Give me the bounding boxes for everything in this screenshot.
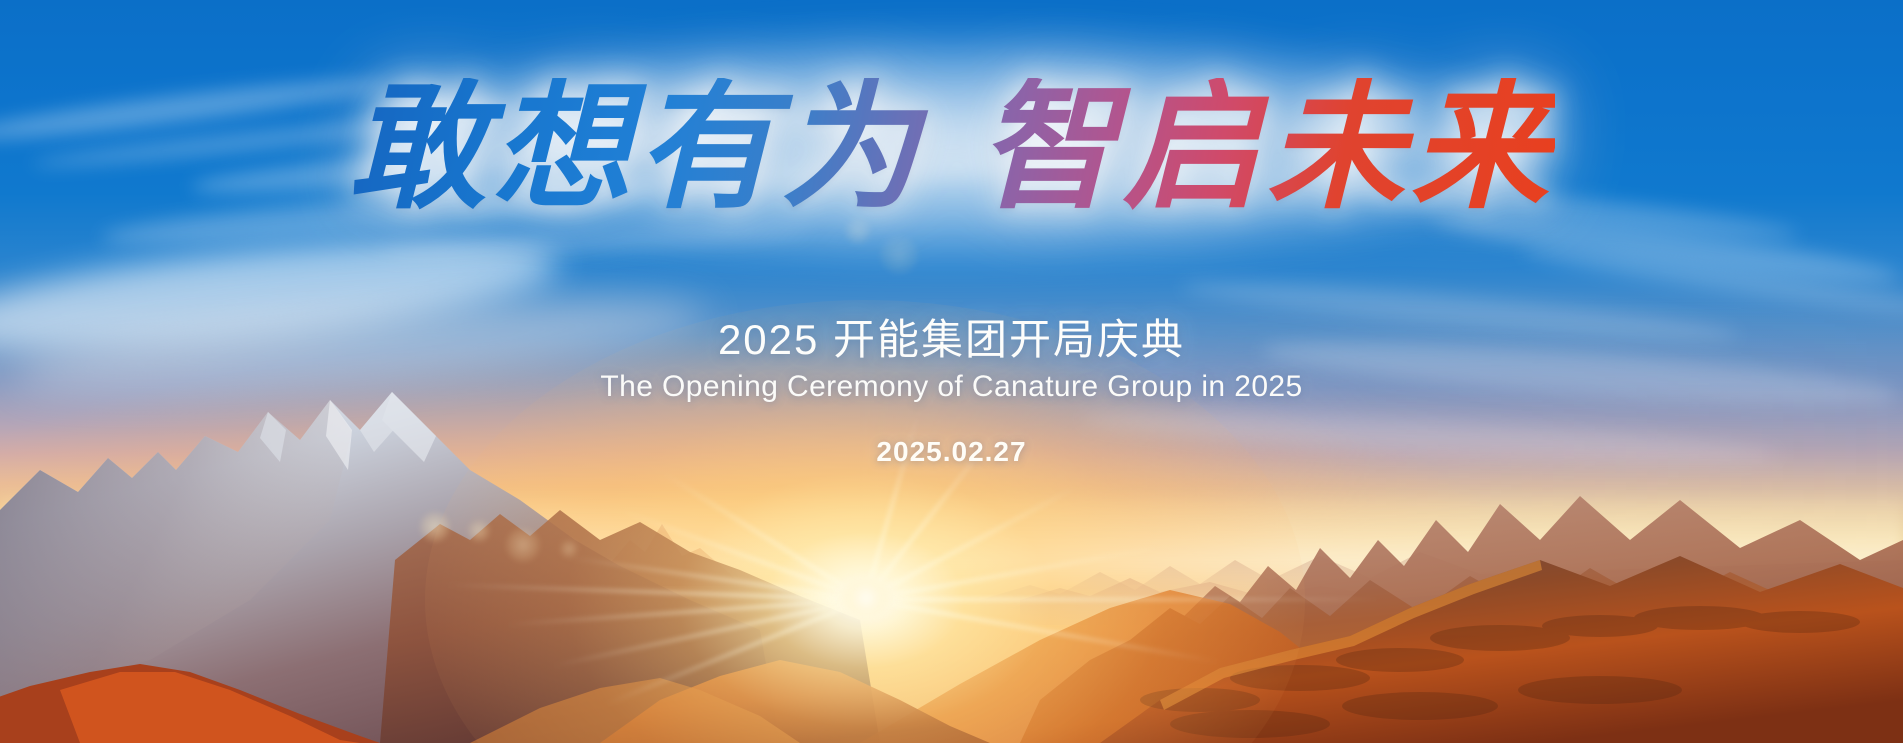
- lens-flare-dot: [468, 520, 490, 542]
- lens-flare-dot: [506, 528, 540, 562]
- sun-core: [838, 578, 894, 618]
- lens-flare-dot: [880, 236, 918, 274]
- event-banner: 敢想有为 智启未来 2025 开能集团开局庆典 The Opening Cere…: [0, 0, 1903, 743]
- lens-flare-dot: [845, 218, 871, 244]
- lens-flare-dot: [420, 512, 450, 542]
- subtitle-english: The Opening Ceremony of Canature Group i…: [0, 370, 1903, 404]
- sun-ray: [865, 598, 1385, 601]
- subtitle-chinese: 2025 开能集团开局庆典: [0, 306, 1903, 367]
- event-date: 2025.02.27: [0, 436, 1903, 468]
- lens-flare-dot: [560, 540, 578, 558]
